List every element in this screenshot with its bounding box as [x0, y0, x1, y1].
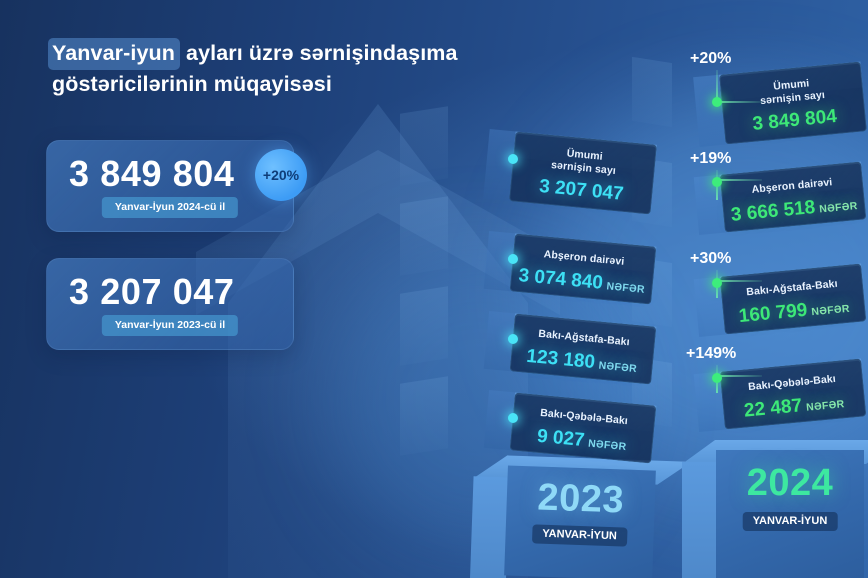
background-bar-4 — [400, 376, 448, 456]
year-label-2023: 2023 — [506, 475, 655, 523]
year-pedestal-2024: 2024 YANVAR-İYUN — [716, 450, 864, 578]
summary-card-2024[interactable]: 3 849 804 +20% Yanvar-İyun 2024-cü il — [46, 140, 294, 232]
connector-dot-2023-agstafa — [508, 334, 518, 344]
title-line-1: Yanvar-iyun ayları üzrə sərnişindaşıma — [52, 38, 572, 70]
metric-number: 22 487 — [743, 395, 803, 421]
metric-unit: NƏFƏR — [811, 303, 850, 319]
summary-value-2024: 3 849 804 — [69, 153, 235, 195]
summary-badge-2024: +20% — [255, 149, 307, 201]
change-pct-2024-total: +20% — [690, 50, 731, 68]
infographic-canvas: Yanvar-iyun ayları üzrə sərnişindaşıma g… — [0, 0, 868, 578]
title-highlight: Yanvar-iyun — [48, 38, 180, 70]
connector-dot-2024-absheron — [712, 177, 722, 187]
connector-dot-2023-total — [508, 154, 518, 164]
change-connector-tick-absheron — [716, 179, 762, 181]
metric-unit: NƏFƏR — [598, 360, 637, 376]
connector-dot-2024-total — [712, 97, 722, 107]
year-period-2023: YANVAR-İYUN — [532, 524, 627, 546]
summary-period-2023: Yanvar-İyun 2023-cü il — [102, 315, 238, 336]
metric-unit: NƏFƏR — [588, 438, 627, 454]
metric-box-2024-total[interactable]: Ümumi sərnişin sayı 3 849 804 — [719, 61, 867, 144]
change-connector-tick-qebele — [716, 375, 762, 377]
title-rest: ayları üzrə sərnişindaşıma — [180, 41, 458, 65]
background-bar-5 — [632, 57, 672, 127]
pedestal-side-face — [682, 462, 718, 578]
change-connector-tick-agstafa — [716, 280, 762, 282]
change-pct-2024-qebele: +149% — [686, 345, 736, 363]
title-line-2: göstəricilərinin müqayisəsi — [52, 70, 572, 99]
year-period-2024: YANVAR-İYUN — [743, 512, 838, 531]
connector-dot-2023-absheron — [508, 254, 518, 264]
year-pedestal-2023: 2023 YANVAR-İYUN — [504, 465, 656, 578]
metric-unit: NƏFƏR — [819, 200, 858, 216]
summary-period-2024: Yanvar-İyun 2024-cü il — [102, 197, 238, 218]
metric-unit: NƏFƏR — [606, 280, 645, 296]
metric-unit: NƏFƏR — [806, 398, 845, 414]
change-pct-2024-absheron: +19% — [690, 150, 731, 168]
year-label-2024: 2024 — [716, 462, 864, 505]
summary-card-2023[interactable]: 3 207 047 Yanvar-İyun 2023-cü il — [46, 258, 294, 350]
metric-box-2023-total[interactable]: Ümumi sərnişin sayı 3 207 047 — [509, 131, 657, 214]
summary-value-2023: 3 207 047 — [69, 271, 235, 313]
change-pct-2024-agstafa: +30% — [690, 250, 731, 268]
metric-number: 9 027 — [536, 426, 585, 451]
background-bar-2 — [400, 196, 448, 276]
background-bar-3 — [400, 286, 448, 366]
page-title: Yanvar-iyun ayları üzrə sərnişindaşıma g… — [52, 38, 572, 98]
connector-dot-2024-agstafa — [712, 278, 722, 288]
connector-dot-2024-qebele — [712, 373, 722, 383]
connector-dot-2023-qebele — [508, 413, 518, 423]
change-connector-tick-total — [716, 101, 762, 103]
background-bar-1 — [400, 106, 448, 186]
